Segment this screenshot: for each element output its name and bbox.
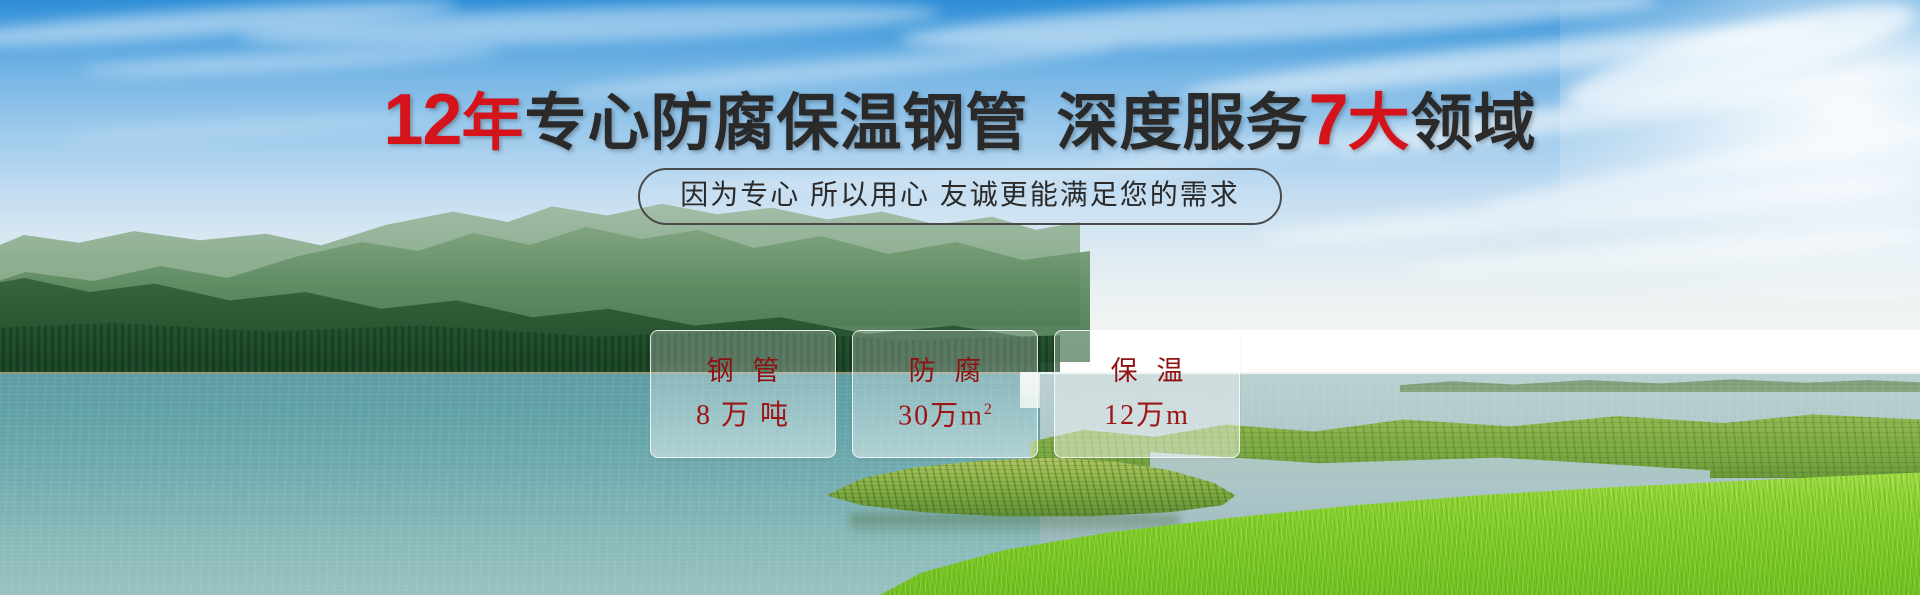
stat-cards: 钢 管 8 万 吨 防 腐 30万m2 保 温 12万m [650,330,1240,458]
stat-card-value-text: 30万m [898,400,984,431]
stat-card-value-text: 8 万 吨 [696,400,790,431]
stat-card-title: 防 腐 [903,358,988,385]
stat-card-value-exponent: 2 [984,401,992,418]
sky-background [0,0,1920,330]
stat-card-insulation[interactable]: 保 温 12万m [1054,330,1240,458]
stat-card-anticorrosion[interactable]: 防 腐 30万m2 [852,330,1038,458]
stat-card-value: 12万m [1104,402,1190,430]
hero-banner: 12年专心防腐保温钢管深度服务7大领域 因为专心 所以用心 友诚更能满足您的需求… [0,0,1920,595]
stat-card-value: 8 万 吨 [696,402,790,430]
stat-card-title: 保 温 [1105,358,1190,385]
stat-card-value: 30万m2 [898,402,992,430]
stat-card-steel-pipe[interactable]: 钢 管 8 万 吨 [650,330,836,458]
stat-card-value-text: 12万m [1104,400,1190,431]
stat-card-title: 钢 管 [701,358,786,385]
